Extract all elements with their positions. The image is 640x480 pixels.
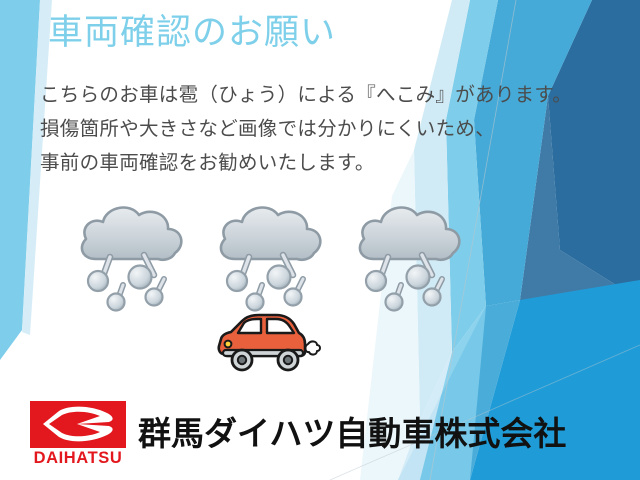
daihatsu-wordmark: DAIHATSU [34,450,123,467]
daihatsu-badge-icon [30,401,126,448]
hail-cloud-row [72,193,472,315]
facet-left-band [0,0,40,360]
body-line-1: こちらのお車は雹（ひょう）による『へこみ』があります。 [40,78,530,112]
hail-cloud-icon [350,193,472,315]
hail-cloud-icon [72,193,194,315]
page-title: 車両確認のお願い [48,12,336,54]
footer-logo-lockup: DAIHATSU 群馬ダイハツ自動車株式会社 [30,401,566,467]
hail-cloud-icon [211,193,333,315]
body-line-3: 事前の車両確認をお勧めいたします。 [40,146,530,180]
body-text-block: こちらのお車は雹（ひょう）による『へこみ』があります。 損傷箇所や大きさなど画像… [40,78,530,180]
facet-right-deep-2 [520,96,640,330]
slide-canvas: 車両確認のお願い こちらのお車は雹（ひょう）による『へこみ』があります。 損傷箇… [0,0,640,480]
exhaust-puff-icon [305,341,320,354]
daihatsu-d-mark-icon [37,405,119,443]
facet-right-deep [548,0,640,300]
body-line-2: 損傷箇所や大きさなど画像では分かりにくいため、 [40,112,530,146]
car-icon [214,308,322,378]
company-name: 群馬ダイハツ自動車株式会社 [138,417,566,450]
daihatsu-logo: DAIHATSU [30,401,126,467]
